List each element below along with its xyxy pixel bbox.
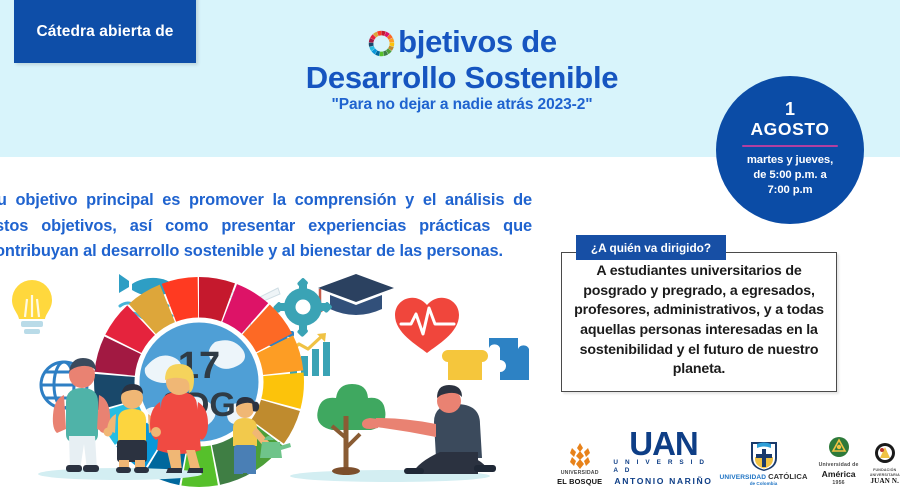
uan-line-1: U N I V E R S I D A D [613, 459, 713, 476]
catolica-line-1: UNIVERSIDAD [720, 474, 767, 481]
poster-root: Cátedra abierta de [0, 0, 900, 490]
catolica-line-2: CATÓLICA [768, 472, 807, 481]
fundacion-juan-n-corpas-logo: FUNDACIÓN UNIVERSITARIA JUAN N. [870, 442, 900, 486]
title-line-1: bjetivos de [232, 26, 692, 58]
juan-n-mark-icon [873, 442, 897, 468]
date-schedule-line-1: martes y jueves, [747, 153, 833, 168]
catedra-badge: Cátedra abierta de [14, 0, 196, 63]
universidad-el-bosque-logo: UNIVERSIDAD EL BOSQUE [552, 442, 607, 486]
juan-n-line-1: FUNDACIÓN UNIVERSITARIA [870, 468, 900, 477]
date-schedule-line-2: de 5:00 p.m. a [747, 168, 833, 183]
man-planting [362, 385, 496, 474]
date-day: 1 [785, 100, 795, 119]
lightbulb-icon [12, 280, 52, 334]
poster-title-block: bjetivos de Desarrollo Sostenible "Para … [232, 26, 692, 114]
audience-body-text: A estudiantes universitarios de posgrado… [568, 262, 830, 380]
catolica-shield-icon [749, 440, 779, 472]
intro-paragraph: Su objetivo principal es promover la com… [0, 188, 532, 265]
date-badge: 1 AGOSTO martes y jueves, de 5:00 p.m. a… [716, 76, 864, 224]
heart-pulse-icon [395, 298, 459, 353]
uan-line-2: ANTONIO NARIÑO [614, 476, 712, 486]
audience-tab-label: ¿A quién va dirigido? [591, 241, 711, 255]
tree-icon [317, 384, 385, 475]
sdg-wheel-icon [367, 29, 396, 58]
universidad-catolica-de-colombia-logo: UNIVERSIDAD CATÓLICA de Colombia [720, 440, 808, 486]
sponsor-logos: UNIVERSIDAD EL BOSQUE UAN U N I V E R S … [552, 428, 900, 486]
universidad-de-america-logo: Universidad de América 1956 [814, 436, 864, 486]
date-month: AGOSTO [750, 119, 829, 139]
audience-tab: ¿A quién va dirigido? [576, 235, 726, 260]
el-bosque-mark-icon [567, 442, 593, 470]
catedra-badge-label: Cátedra abierta de [36, 17, 173, 41]
juan-n-line-2: JUAN N. [870, 477, 899, 486]
date-schedule: martes y jueves, de 5:00 p.m. a 7:00 p.m [747, 153, 833, 198]
date-schedule-line-3: 7:00 p.m [747, 183, 833, 198]
america-line-2: América [822, 469, 856, 480]
america-line-3: 1956 [832, 480, 844, 487]
el-bosque-line-2: EL BOSQUE [557, 477, 602, 486]
universidad-antonio-narino-logo: UAN U N I V E R S I D A D ANTONIO NARIÑO [613, 428, 713, 486]
title-line-2: Desarrollo Sostenible [232, 61, 692, 96]
title-subtitle: "Para no dejar a nadie atrás 2023-2" [232, 96, 692, 114]
sdg-illustration: 17 SDG [0, 262, 550, 490]
date-divider [742, 145, 838, 147]
audience-box: A estudiantes universitarios de posgrado… [561, 252, 837, 392]
puzzle-pieces-icon [442, 338, 529, 380]
america-mark-icon [827, 436, 851, 462]
title-line-1-text: bjetivos de [398, 26, 557, 58]
uan-mark: UAN [629, 428, 698, 459]
catolica-line-3: de Colombia [750, 481, 778, 486]
